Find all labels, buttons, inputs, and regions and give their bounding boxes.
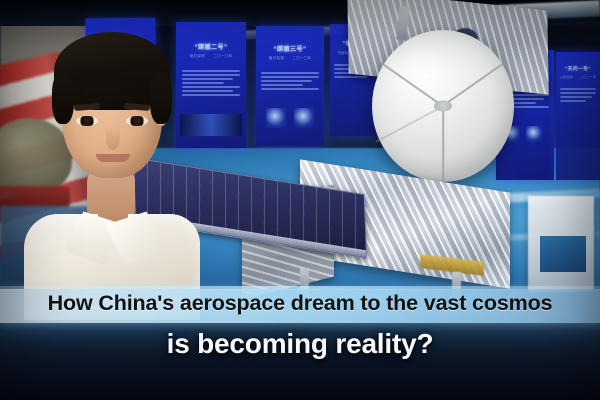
display-case-screen bbox=[540, 236, 586, 272]
presenter-eye-left bbox=[76, 116, 98, 126]
exhibit-panel-3-subtitle: 落月巡视 二〇一三年 bbox=[256, 56, 324, 61]
dish-center-hub bbox=[434, 101, 452, 112]
thumbnail-image: “嫦娥一号” 绕月探测 二〇〇七年 “嫦娥二号” 绕月探测 二〇一〇年 “嫦娥三… bbox=[0, 0, 600, 400]
presenter-mouth bbox=[96, 154, 130, 162]
exhibit-panel-3-thumb-a bbox=[266, 108, 286, 128]
exhibit-panel-3-text-block bbox=[261, 72, 318, 90]
dish-seam-1 bbox=[442, 106, 444, 182]
exhibit-panel-3-title: “嫦娥三号” bbox=[256, 44, 324, 53]
dish-seam-3 bbox=[443, 62, 506, 107]
exhibit-panel-6-title: “天问一号” bbox=[556, 66, 600, 72]
presenter-cutout bbox=[24, 18, 200, 300]
exhibit-panel-5-thumb-b bbox=[526, 126, 542, 142]
presenter-hair-side-right bbox=[150, 72, 172, 124]
exhibit-panel-6-subtitle: 火星探测 二〇二一年 bbox=[556, 75, 600, 79]
exhibit-panel-3: “嫦娥三号” 落月巡视 二〇一三年 bbox=[256, 26, 324, 146]
exhibit-panel-6-text-block bbox=[560, 88, 597, 102]
exhibit-panel-3-thumb-b bbox=[294, 108, 314, 128]
presenter-eye-right bbox=[126, 116, 148, 126]
headline: How China's aerospace dream to the vast … bbox=[0, 284, 600, 364]
headline-line-2: is becoming reality? bbox=[0, 324, 600, 364]
parabolic-dish-antenna bbox=[372, 30, 514, 182]
presenter-hair-side-left bbox=[52, 72, 74, 124]
exhibit-panel-6: “天问一号” 火星探测 二〇二一年 bbox=[556, 52, 600, 180]
headline-line-1: How China's aerospace dream to the vast … bbox=[0, 284, 600, 322]
presenter-nose bbox=[106, 126, 120, 150]
